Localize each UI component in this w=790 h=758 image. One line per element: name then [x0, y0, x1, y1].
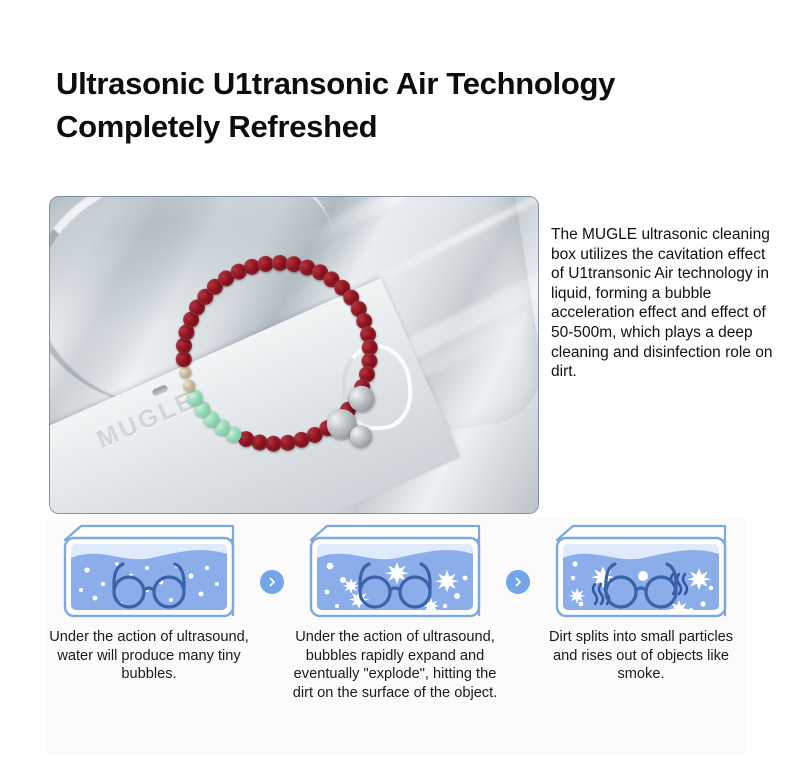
- page-title: Ultrasonic U1transonic Air Technology Co…: [56, 62, 766, 148]
- step-1-caption: Under the action of ultrasound, water wi…: [46, 628, 252, 684]
- step-2: Under the action of ultrasound, bubbles …: [291, 518, 499, 702]
- bracelet-bead: [178, 365, 193, 380]
- arrow-1: [253, 518, 291, 594]
- tank-with-tiny-bubbles-icon: [51, 518, 247, 620]
- chevron-right-icon: [506, 570, 530, 594]
- tank-with-exploding-bubbles-icon: [297, 518, 493, 620]
- step-3: Dirt splits into small particles and ris…: [537, 518, 745, 684]
- product-photo: MUGLE: [49, 196, 539, 514]
- page-title-line-2: Completely Refreshed: [56, 105, 766, 148]
- step-2-caption: Under the action of ultrasound, bubbles …: [292, 628, 498, 702]
- step-1: Under the action of ultrasound, water wi…: [45, 518, 253, 684]
- arrow-2: [499, 518, 537, 594]
- process-steps: Under the action of ultrasound, water wi…: [45, 518, 745, 754]
- page-title-line-1: Ultrasonic U1transonic Air Technology: [56, 62, 766, 105]
- step-3-caption: Dirt splits into small particles and ris…: [538, 628, 744, 684]
- product-photo-image: MUGLE: [50, 197, 538, 513]
- tank-with-dirt-smoke-icon: [543, 518, 739, 620]
- product-description: The MUGLE ultrasonic cleaning box utiliz…: [551, 225, 779, 382]
- chevron-right-icon: [260, 570, 284, 594]
